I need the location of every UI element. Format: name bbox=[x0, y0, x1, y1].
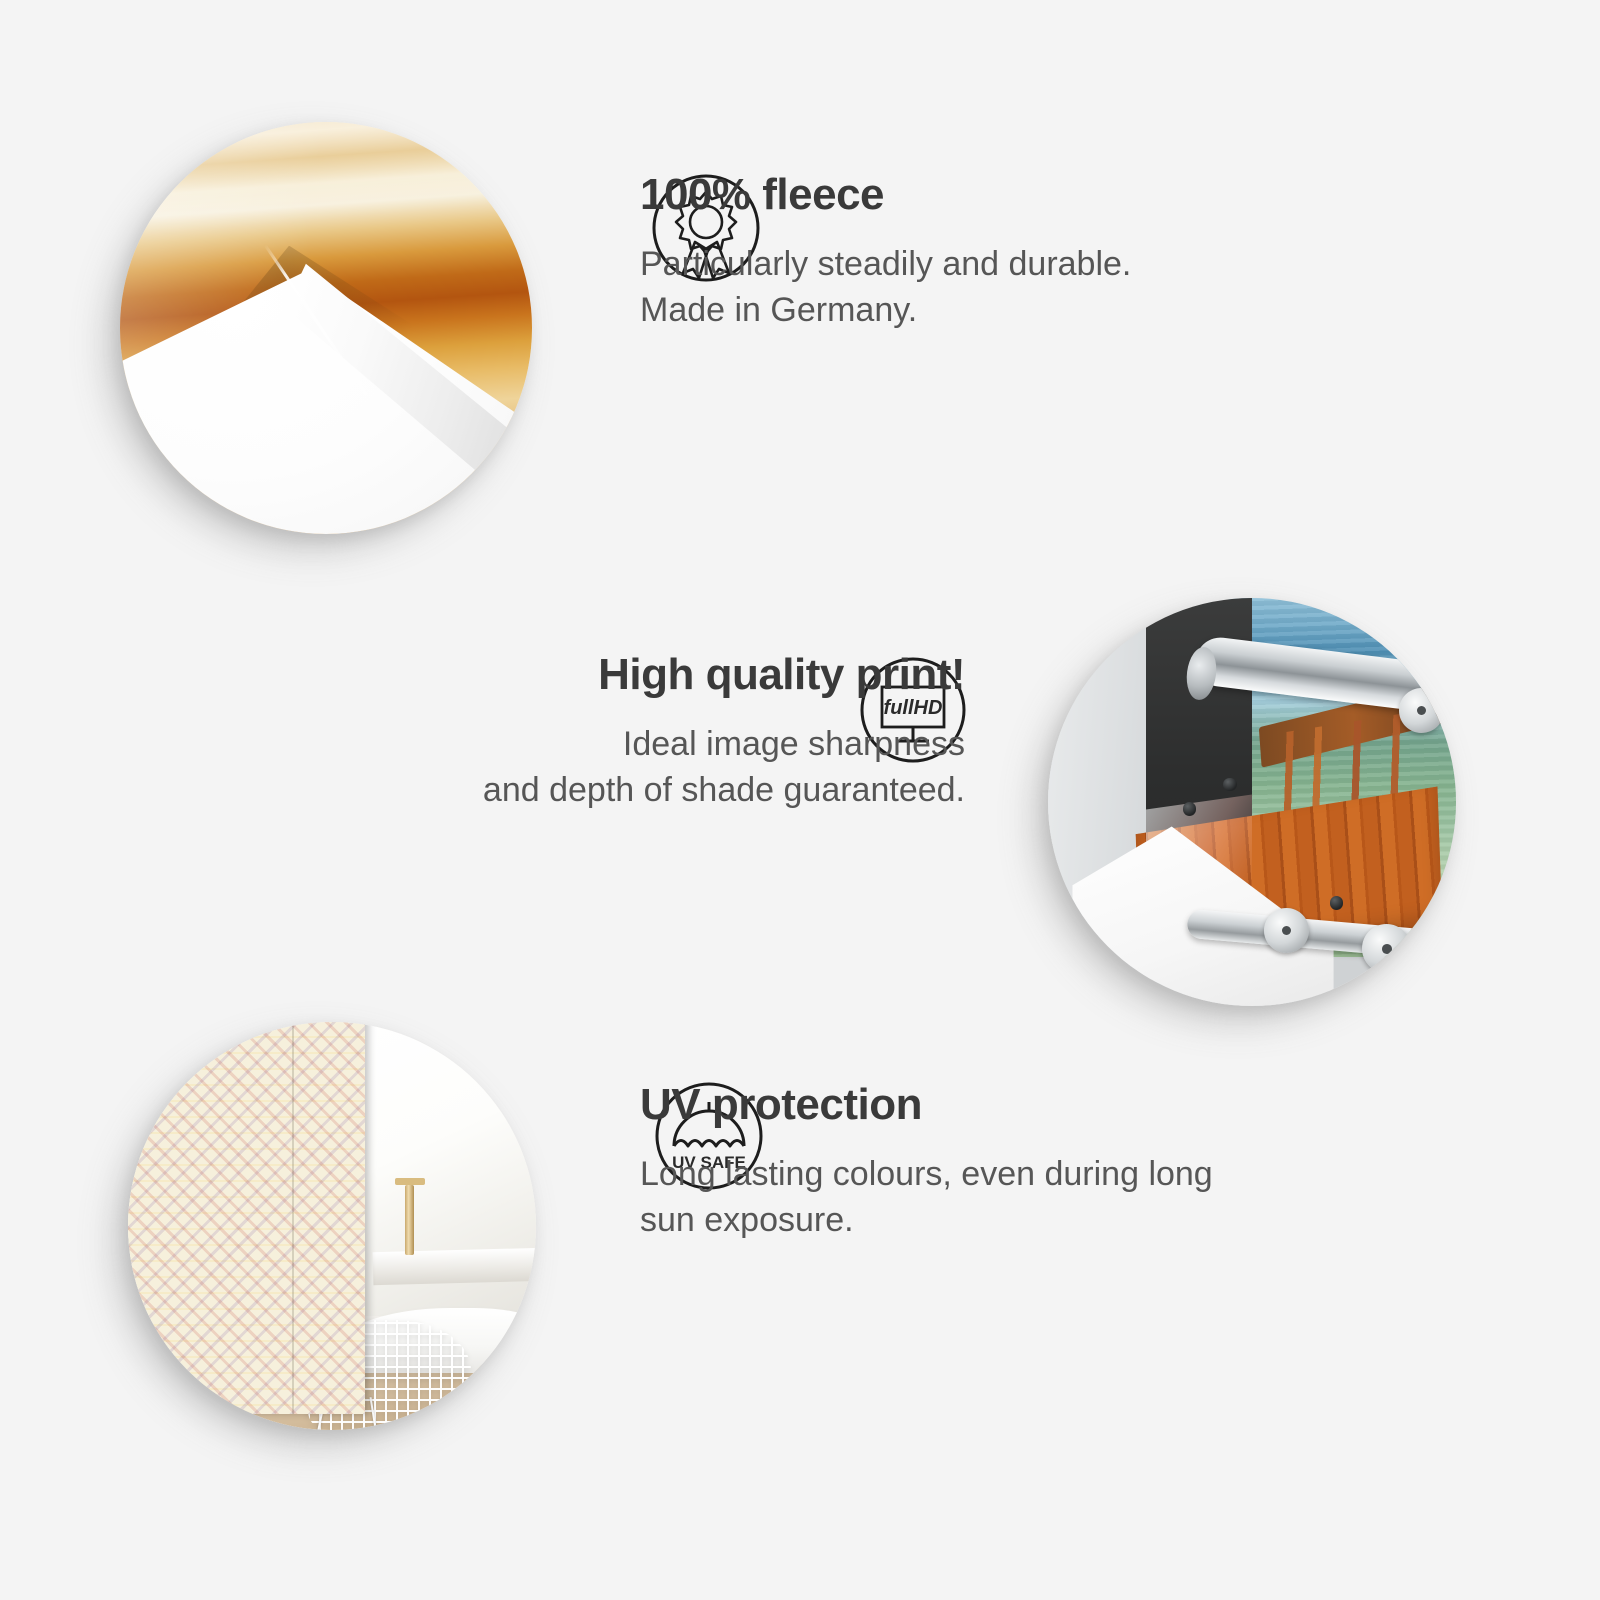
printer-knob bbox=[1183, 802, 1197, 816]
feature-heading-fleece: 100% fleece bbox=[640, 170, 1131, 220]
feature-body-uv-protection: Long lasting colours, even during long s… bbox=[640, 1152, 1213, 1243]
feature-body-print-quality: Ideal image sharpness and depth of shade… bbox=[340, 722, 965, 813]
feature-block-uv-protection: UV protection Long lasting colours, even… bbox=[640, 1080, 1213, 1243]
feature-block-fleece: 100% fleece Particularly steadily and du… bbox=[640, 170, 1131, 333]
large-format-printer-photo bbox=[1048, 598, 1456, 1006]
wallpaper-seam bbox=[292, 1022, 294, 1414]
printer-wheel bbox=[1362, 924, 1411, 973]
mandala-wallpaper-room-photo bbox=[128, 1022, 536, 1430]
window-sill bbox=[372, 1248, 536, 1285]
feature-body-fleece: Particularly steadily and durable. Made … bbox=[640, 242, 1131, 333]
feature-heading-print-quality: High quality print! bbox=[340, 650, 965, 700]
peeling-fleece-wallpaper-photo bbox=[120, 122, 532, 534]
candlestick bbox=[405, 1185, 414, 1254]
printer-knob bbox=[1330, 896, 1344, 910]
mandala-wallpaper-panel bbox=[128, 1022, 365, 1414]
room-scene bbox=[128, 1022, 536, 1430]
feature-heading-uv-protection: UV protection bbox=[640, 1080, 1213, 1130]
printer-scene bbox=[1048, 598, 1456, 1006]
printer-wheel bbox=[1264, 908, 1309, 953]
mandala-pattern bbox=[128, 1022, 365, 1414]
feature-block-print-quality: High quality print! Ideal image sharpnes… bbox=[340, 650, 965, 813]
printer-wheel bbox=[1399, 688, 1444, 733]
infographic-stage: 100% fleece Particularly steadily and du… bbox=[0, 0, 1600, 1600]
